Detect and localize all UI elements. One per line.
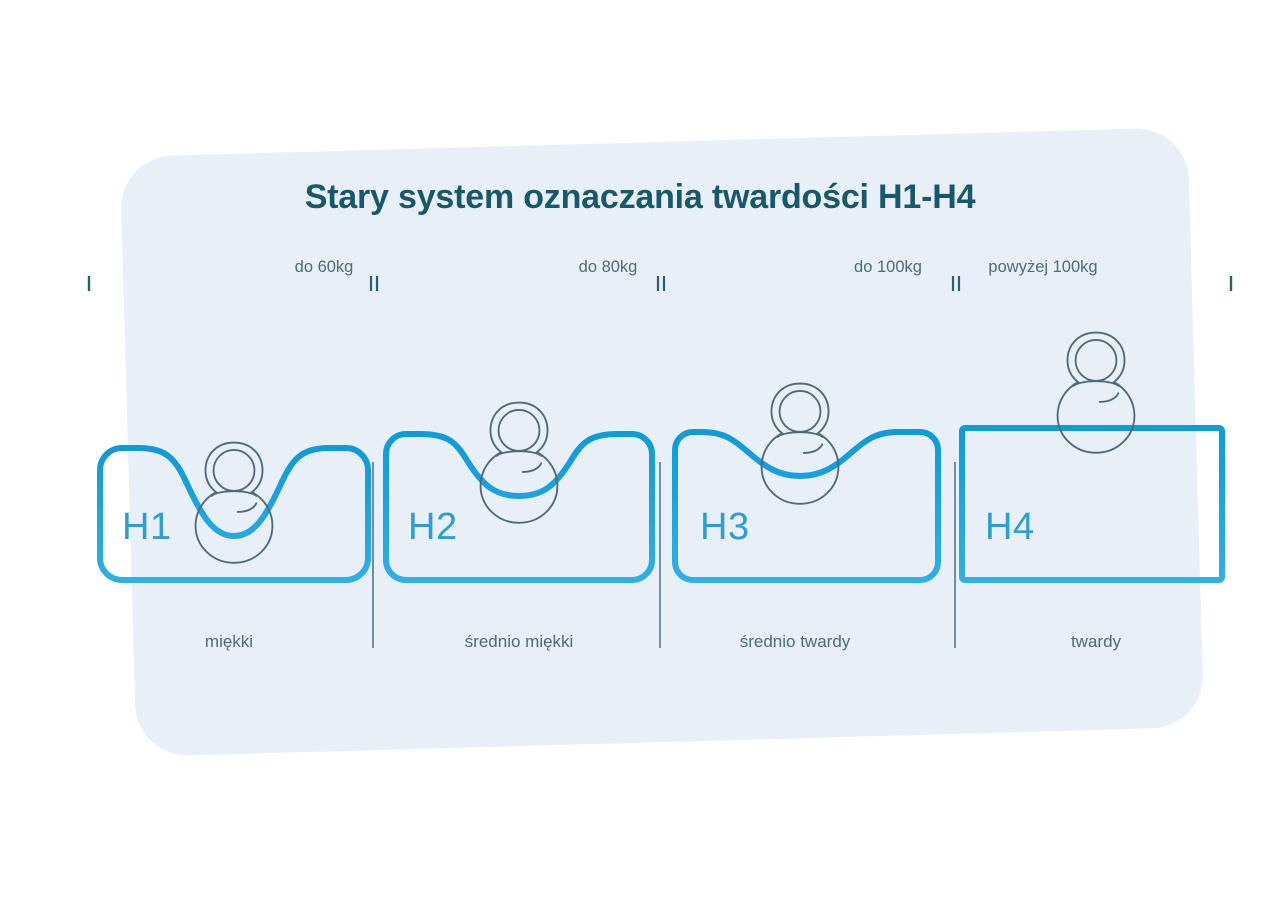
kettlebell-icon-h1 bbox=[196, 443, 273, 563]
kettlebell-inner-arc bbox=[1100, 393, 1119, 402]
mattress-h2 bbox=[386, 434, 652, 580]
kettlebell-inner-arc bbox=[523, 463, 542, 472]
mattress-shape-h2 bbox=[386, 434, 652, 580]
kettlebell-handle-hole bbox=[780, 391, 821, 432]
infographic-canvas: Stary system oznaczania twardości H1-H4 … bbox=[0, 0, 1280, 911]
kettlebell-icon-h4 bbox=[1058, 333, 1135, 453]
mattress-shape-h1 bbox=[100, 448, 368, 580]
mattress-shape-h4 bbox=[962, 428, 1222, 580]
kettlebell-outer-outline bbox=[1058, 333, 1135, 453]
kettlebell-icon-h2 bbox=[481, 403, 558, 523]
kettlebell-handle-hole bbox=[1076, 340, 1117, 381]
mattress-shape-h3 bbox=[675, 432, 938, 580]
kettlebell-neck-line bbox=[778, 432, 823, 437]
kettlebell-outer-outline bbox=[196, 443, 273, 563]
kettlebell-neck-line bbox=[1074, 381, 1119, 386]
kettlebell-neck-line bbox=[497, 451, 542, 456]
kettlebell-inner-arc bbox=[804, 444, 823, 453]
kettlebell-handle-hole bbox=[214, 450, 255, 491]
weight-scale-axis bbox=[88, 276, 1232, 291]
kettlebell-handle-hole bbox=[499, 410, 540, 451]
kettlebell-outer-outline bbox=[762, 384, 839, 504]
kettlebell-neck-line bbox=[212, 491, 257, 496]
vector-layer bbox=[0, 0, 1280, 911]
kettlebell-inner-arc bbox=[238, 503, 257, 512]
mattress-h3 bbox=[675, 432, 938, 580]
kettlebell-icon-h3 bbox=[762, 384, 839, 504]
kettlebell-outer-outline bbox=[481, 403, 558, 523]
mattress-h1 bbox=[100, 448, 368, 580]
baseline-and-dividers bbox=[88, 462, 1232, 648]
mattress-h4 bbox=[962, 428, 1222, 580]
